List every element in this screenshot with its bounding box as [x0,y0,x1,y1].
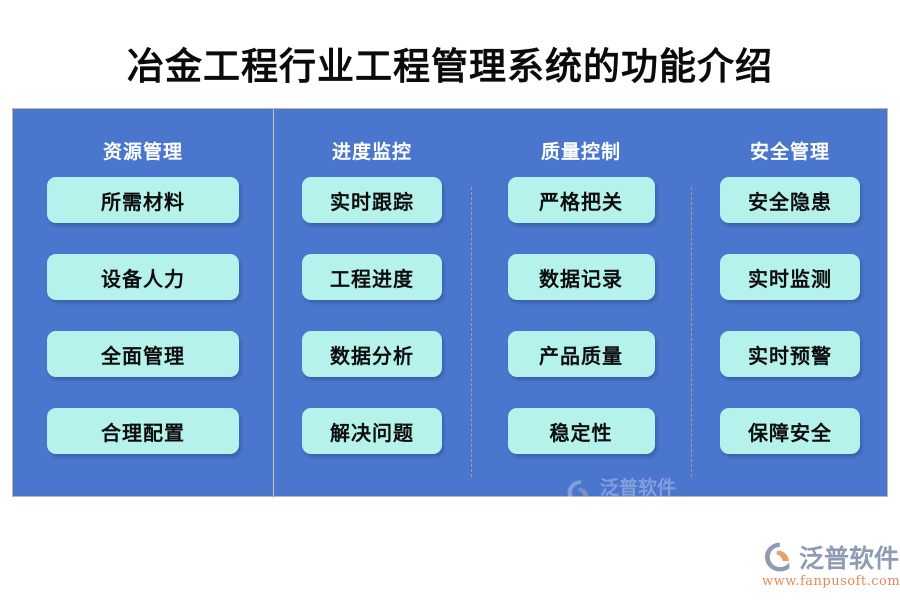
feature-item[interactable]: 实时预警 [720,331,860,377]
watermark-subtitle: FANPU SOFTWARE [600,500,690,508]
feature-item[interactable]: 保障安全 [720,408,860,454]
feature-column-resource-management: 资源管理 所需材料 设备人力 全面管理 合理配置 [13,109,273,498]
column-items-1: 所需材料 设备人力 全面管理 合理配置 [13,177,273,454]
column-header-3: 质量控制 [471,137,691,164]
feature-item[interactable]: 实时跟踪 [302,177,442,223]
fanpu-logo-icon [762,541,796,573]
feature-column-safety-management: 安全管理 安全隐患 实时监测 实时预警 保障安全 [691,109,889,498]
feature-item[interactable]: 严格把关 [508,177,655,223]
column-header-1: 资源管理 [13,137,273,164]
feature-item[interactable]: 产品质量 [508,331,655,377]
feature-item[interactable]: 合理配置 [47,408,239,454]
column-header-2: 进度监控 [273,137,471,164]
feature-item[interactable]: 全面管理 [47,331,239,377]
column-header-4: 安全管理 [691,137,889,164]
feature-item[interactable]: 解决问题 [302,408,442,454]
feature-item[interactable]: 安全隐患 [720,177,860,223]
feature-item[interactable]: 数据分析 [302,331,442,377]
brand-name: 泛普软件 [799,539,899,575]
brand-url: www.fanpusoft.com [762,574,900,589]
brand-logo-top: 泛普软件 [762,541,899,573]
brand-logo: 泛普软件 www.fanpusoft.com [762,541,892,591]
page-title: 冶金工程行业工程管理系统的功能介绍 [0,36,900,90]
column-items-4: 安全隐患 实时监测 实时预警 保障安全 [691,177,889,454]
column-items-2: 实时跟踪 工程进度 数据分析 解决问题 [273,177,471,454]
feature-column-progress-monitoring: 进度监控 实时跟踪 工程进度 数据分析 解决问题 [273,109,471,498]
feature-item[interactable]: 稳定性 [508,408,655,454]
feature-item[interactable]: 工程进度 [302,254,442,300]
feature-item[interactable]: 实时监测 [720,254,860,300]
feature-item[interactable]: 所需材料 [47,177,239,223]
features-panel: 资源管理 所需材料 设备人力 全面管理 合理配置 进度监控 实时跟踪 工程进度 … [12,108,888,497]
column-items-3: 严格把关 数据记录 产品质量 稳定性 [471,177,691,454]
feature-item[interactable]: 设备人力 [47,254,239,300]
feature-item[interactable]: 数据记录 [508,254,655,300]
feature-column-quality-control: 质量控制 严格把关 数据记录 产品质量 稳定性 [471,109,691,498]
